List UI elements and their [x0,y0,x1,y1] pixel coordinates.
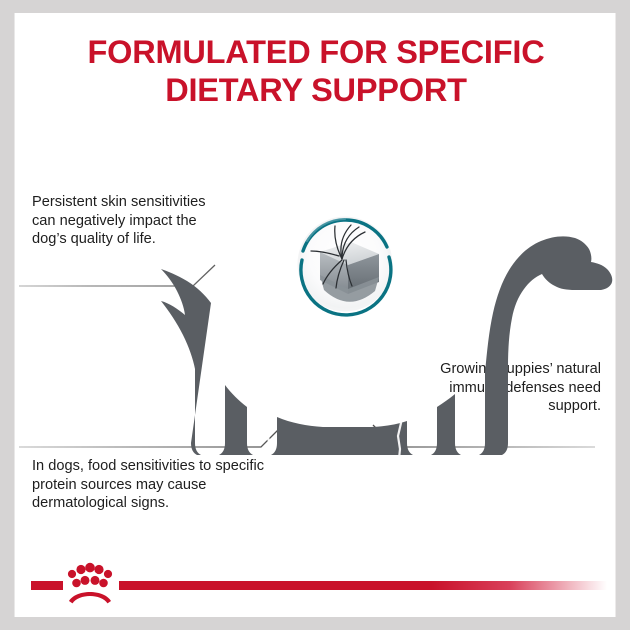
badge-ring-arc-lower [301,257,391,315]
callout-food-sensitivities: In dogs, food sensitivities to specific … [32,457,267,513]
callout-immune-support: Growing puppies’ natural immune defenses… [413,360,601,416]
leader-line-skin [19,265,215,286]
dog-body-shape [161,236,612,462]
badge-ring-arc-upper [303,220,387,251]
royal-canin-crown-icon [61,560,119,610]
skin-cross-section-badge [299,218,391,315]
skin-block-side [348,254,379,294]
leader-line-food [19,425,283,447]
hair-shafts [311,225,365,288]
content-card: FORMULATED FOR SPECIFIC DIETARY SUPPORT [14,13,616,617]
skin-block-top [320,242,379,265]
footer-bar-left [31,581,63,590]
dog-belly-contour [315,385,357,397]
leader-line-immune [373,425,595,447]
dog-fur-contour-front [266,363,272,462]
skin-block-base [320,275,379,302]
page-title: FORMULATED FOR SPECIFIC DIETARY SUPPORT [15,33,617,109]
infographic-page: FORMULATED FOR SPECIFIC DIETARY SUPPORT [0,0,630,630]
skin-block-front [320,252,348,294]
footer-bar-right [119,581,607,590]
page-title-line-2: DIETARY SUPPORT [15,71,617,109]
dog-fur-contour-rear [395,353,402,459]
callout-skin-sensitivities: Persistent skin sensitivities can negati… [32,193,212,249]
page-title-line-1: FORMULATED FOR SPECIFIC [87,34,544,70]
badge-ring-arc-accent [307,219,345,241]
brand-footer [15,553,617,617]
